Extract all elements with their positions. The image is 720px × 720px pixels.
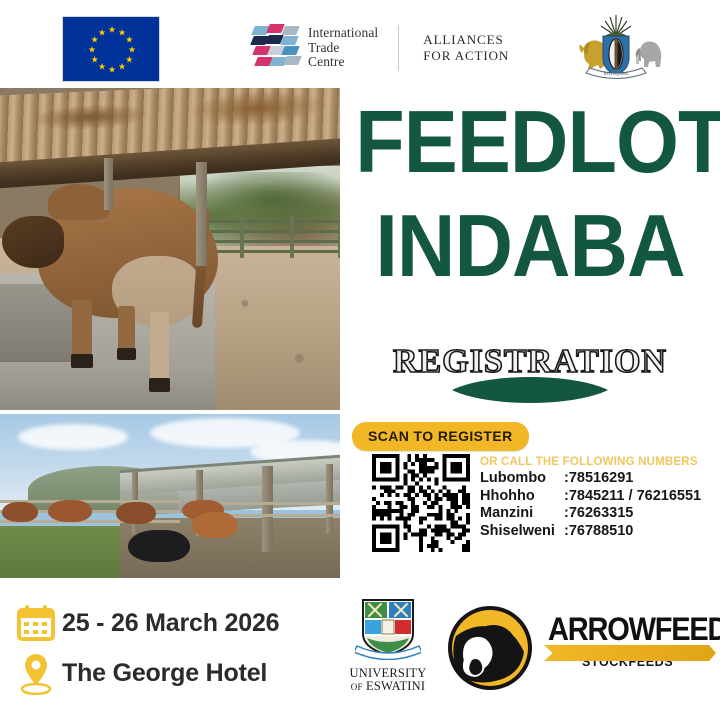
sponsor-header: ★★★★★★★★★★★★ International Trade Centre … <box>0 0 720 88</box>
photo-bull-hoof <box>71 354 93 368</box>
contact-numbers-list: Lubombo:78516291Hhohho:7845211 / 7621655… <box>480 470 712 540</box>
uneswa-of: OF <box>351 682 363 692</box>
university-of-eswatini-logo: UNIVERSITY OF ESWATINI <box>340 594 436 706</box>
event-date: 25 - 26 March 2026 <box>62 609 279 638</box>
subtitle-registration: REGISTRATION <box>393 343 667 381</box>
contact-number: :76263315 <box>564 505 633 523</box>
itc-mark-icon <box>252 24 298 72</box>
contact-region: Shiselweni <box>480 523 564 541</box>
photo-shed-post <box>104 158 113 210</box>
contact-number: :7845211 / 76216551 <box>564 488 701 506</box>
partner-logos: UNIVERSITY OF ESWATINI <box>340 586 720 714</box>
international-trade-centre-logo: International Trade Centre ALLIANCES FOR… <box>252 24 509 72</box>
photo-column <box>0 88 340 578</box>
eu-star-icon: ★ <box>91 56 99 65</box>
photo-bull-leg <box>72 300 92 362</box>
eu-star-icon: ★ <box>128 46 136 55</box>
roof-rust-patch <box>190 89 325 129</box>
logo-divider <box>398 25 399 71</box>
title-line-1: FEEDLOT <box>355 92 720 191</box>
event-date-row: 25 - 26 March 2026 <box>10 598 340 648</box>
eu-flag-icon: ★★★★★★★★★★★★ <box>62 16 160 82</box>
uneswa-line-2: ESWATINI <box>366 679 425 693</box>
poster-canvas: ★★★★★★★★★★★★ International Trade Centre … <box>0 0 720 720</box>
alliances-line-1: ALLIANCES <box>423 32 509 48</box>
eu-star-icon: ★ <box>118 63 126 72</box>
photo-shed-post <box>196 162 207 266</box>
eu-star-icon: ★ <box>98 28 106 37</box>
contact-region: Manzini <box>480 505 564 523</box>
contact-number-row[interactable]: Lubombo:78516291 <box>480 470 712 488</box>
scan-to-register-badge[interactable]: SCAN TO REGISTER <box>352 422 529 451</box>
uneswa-crest-icon <box>355 594 421 660</box>
photo-bull-hoof <box>117 348 136 360</box>
eu-star-icon: ★ <box>125 56 133 65</box>
alliances-line-2: FOR ACTION <box>423 48 509 64</box>
event-details: 25 - 26 March 2026 The George Hotel <box>10 598 340 698</box>
photo-cattle-under-shed <box>0 88 340 410</box>
feedlot-cow <box>2 502 38 522</box>
arrowfeeds-name: ARROWFEEDS <box>548 613 716 647</box>
photo-feedlot-yard <box>0 414 340 578</box>
coat-of-arms-motto: SIYINQABA <box>604 71 629 76</box>
contact-region: Hhohho <box>480 488 564 506</box>
eu-star-icon: ★ <box>108 66 116 75</box>
feedlot-post <box>262 466 273 552</box>
photo-bull-hoof <box>149 378 170 392</box>
calendar-icon <box>10 604 62 642</box>
title-line-2: INDABA <box>355 194 705 298</box>
cloud <box>18 424 128 450</box>
uneswa-wordmark: UNIVERSITY OF ESWATINI <box>340 667 436 694</box>
event-venue-row: The George Hotel <box>10 648 340 698</box>
footer-bar: 25 - 26 March 2026 The George Hotel <box>0 578 720 720</box>
photo-bull-hump <box>48 184 110 220</box>
contact-region: Lubombo <box>480 470 564 488</box>
contact-numbers-heading: OR CALL THE FOLLOWING NUMBERS <box>480 456 712 468</box>
eswatini-coat-of-arms-icon: SIYINQABA <box>556 12 676 84</box>
contact-number: :76788510 <box>564 523 633 541</box>
photo-bull-leg <box>150 312 169 386</box>
elephant-supporter <box>636 42 661 67</box>
photo-bull-head <box>2 216 64 268</box>
registration-qr-code[interactable] <box>372 454 470 552</box>
location-pin-icon <box>10 651 62 695</box>
contact-number-row[interactable]: Shiselweni:76788510 <box>480 523 712 541</box>
eu-star-icon: ★ <box>125 36 133 45</box>
contact-number-row[interactable]: Hhohho:7845211 / 76216551 <box>480 488 712 506</box>
alliances-for-action-wordmark: ALLIANCES FOR ACTION <box>423 32 509 64</box>
itc-line-3: Centre <box>308 55 378 70</box>
eu-star-icon: ★ <box>108 26 116 35</box>
eu-star-icon: ★ <box>98 63 106 72</box>
itc-wordmark: International Trade Centre <box>308 26 378 70</box>
feedlot-cow <box>116 502 156 524</box>
feedlot-cow <box>192 512 238 538</box>
itc-line-2: Trade <box>308 41 378 56</box>
contact-number-row[interactable]: Manzini:76263315 <box>480 505 712 523</box>
contact-numbers-block: OR CALL THE FOLLOWING NUMBERS Lubombo:78… <box>480 456 712 540</box>
contact-number: :78516291 <box>564 470 633 488</box>
roof-rust-patch <box>30 102 151 132</box>
feedlot-cow <box>48 500 92 522</box>
itc-line-1: International <box>308 26 378 41</box>
title-panel: FEEDLOT INDABA REGISTRATION SCAN TO REGI… <box>340 88 720 578</box>
feedlot-post <box>326 464 333 534</box>
eu-star-icon: ★ <box>88 46 96 55</box>
subtitle-block: REGISTRATION <box>340 343 720 399</box>
page-title: FEEDLOT INDABA <box>355 90 705 298</box>
arrowfeeds-wordmark: ARROWFEEDS STOCKFEEDS <box>548 615 716 685</box>
event-venue: The George Hotel <box>62 659 267 688</box>
arrowfeeds-mark-icon <box>442 602 542 698</box>
feedlot-cow-lying <box>128 530 190 562</box>
